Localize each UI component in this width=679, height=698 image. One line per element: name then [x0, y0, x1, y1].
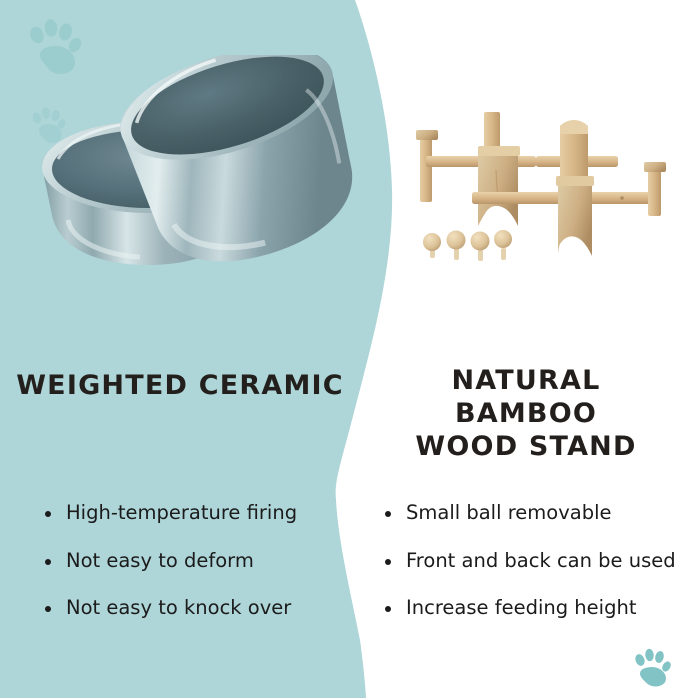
wooden-ball: [423, 233, 441, 258]
wooden-ball: [471, 232, 490, 262]
list-item: Front and back can be used: [382, 551, 679, 571]
right-panel-heading-line1: NATURAL BAMBOO: [451, 365, 600, 429]
right-panel-heading-line2: WOOD STAND: [378, 431, 674, 464]
right-panel-heading: NATURAL BAMBOO WOOD STAND: [378, 365, 674, 464]
list-item: Not easy to knock over: [42, 598, 342, 618]
wooden-ball: [447, 231, 466, 261]
list-item: Small ball removable: [382, 503, 679, 523]
paw-print-icon: [632, 648, 672, 690]
bamboo-stand-image: [408, 108, 676, 273]
list-item: High-temperature firing: [42, 503, 342, 523]
ceramic-bowls-image: [28, 55, 358, 290]
wooden-balls-group: [423, 230, 512, 261]
left-panel-heading: WEIGHTED CERAMIC: [10, 370, 350, 403]
left-panel-feature-list: High-temperature firing Not easy to defo…: [42, 503, 342, 646]
wooden-ball: [494, 230, 512, 260]
stand-left-riser: [478, 146, 520, 226]
stand-front-riser: [556, 176, 594, 256]
list-item: Increase feeding height: [382, 598, 679, 618]
right-panel-feature-list: Small ball removable Front and back can …: [382, 503, 679, 646]
list-item: Not easy to deform: [42, 551, 342, 571]
infographic-canvas: WEIGHTED CERAMIC NATURAL BAMBOO WOOD STA…: [0, 0, 679, 698]
